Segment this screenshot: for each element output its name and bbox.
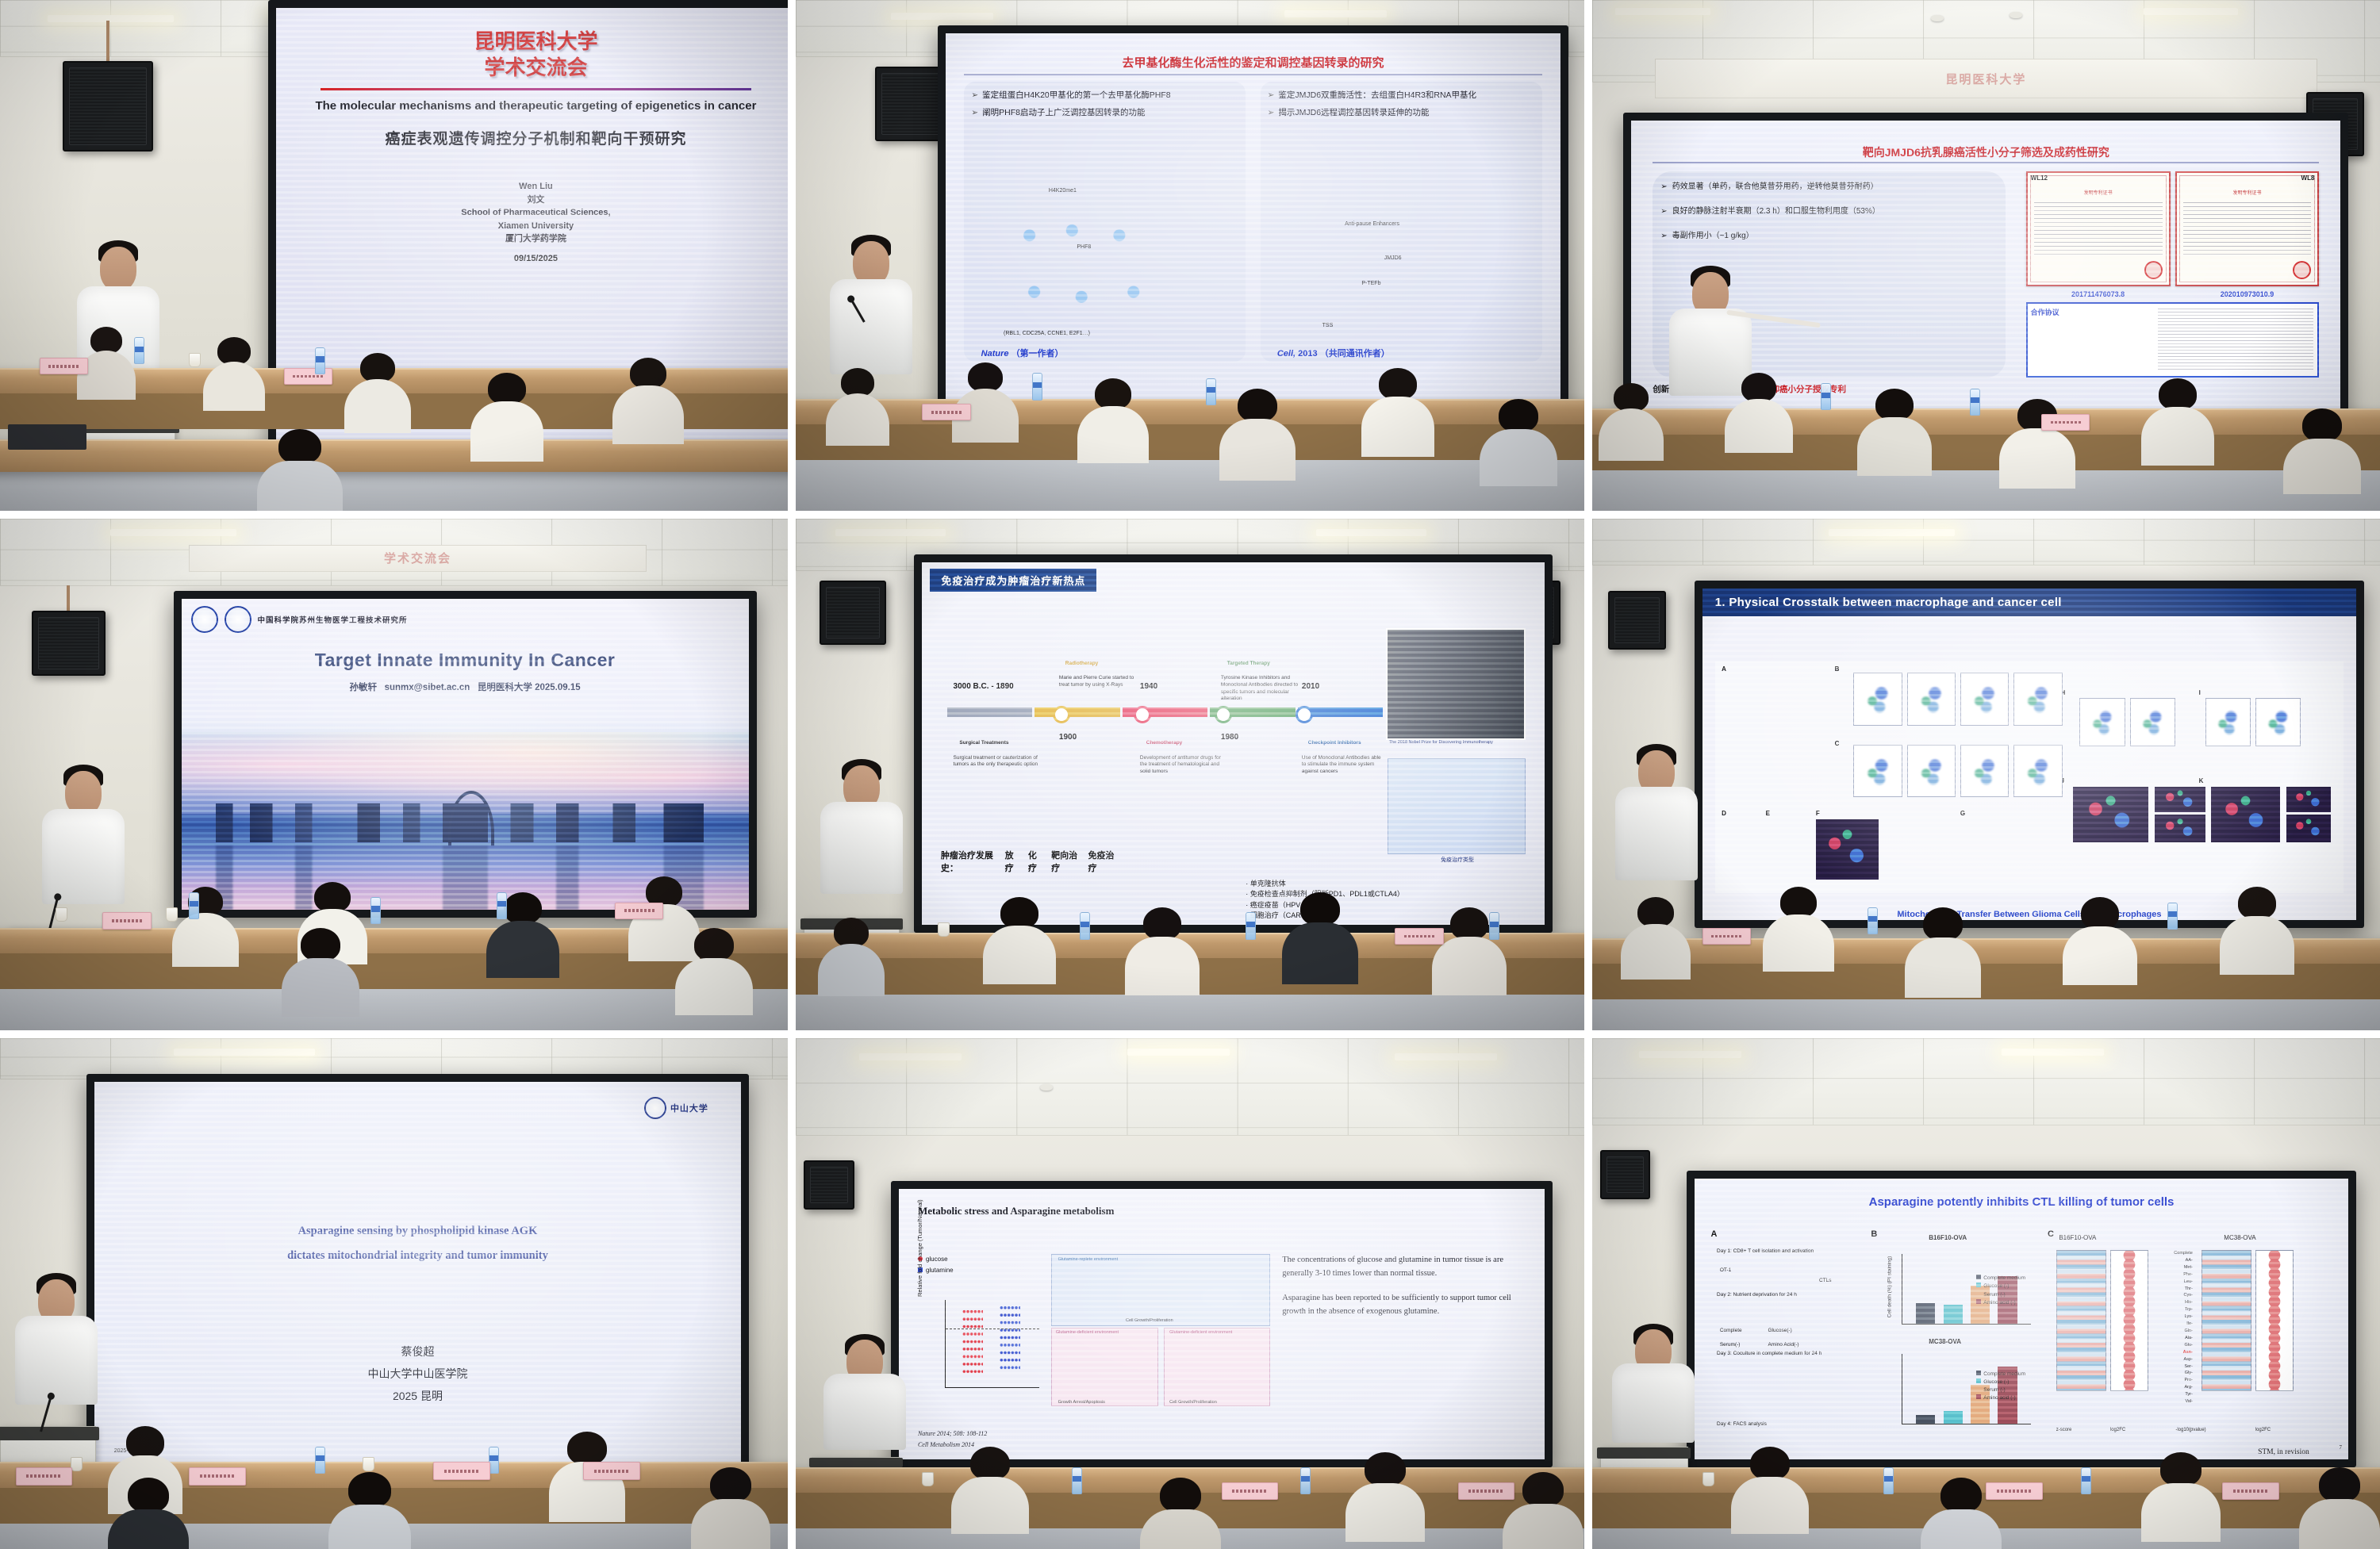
panel-letter-A: A [1722, 665, 1726, 673]
therapy-cn-immuno: 免疫治疗 [1088, 849, 1115, 874]
plot-axes [945, 1300, 1039, 1388]
presenter [1615, 1324, 1691, 1467]
venue-year: 2025 昆明 [114, 1385, 722, 1407]
dotplot-mc38 [2255, 1250, 2294, 1391]
row-label: 肿瘤治疗发展史： [941, 849, 996, 874]
diagram-label-deficient-1: Glutamine-deficient environment [1056, 1330, 1119, 1335]
official-stamp-icon [2144, 261, 2163, 279]
slide-date: 2025.09.15 [535, 683, 581, 692]
citation-right: Cell, 2013 （共同通讯作者） [1277, 347, 1390, 359]
timeline-node [1053, 706, 1070, 723]
therapy-name: Chemotherapy [1146, 740, 1183, 747]
audience-member [1222, 389, 1293, 512]
bullet-item: ➢药效显著（单药，联合他莫昔芬用药，逆转他莫昔芬耐药） [1660, 181, 1998, 193]
official-stamp-icon [2293, 261, 2311, 279]
audience-member [347, 353, 409, 466]
water-bottle [1821, 383, 1831, 410]
bullet-item: ➢阐明PHF8启动子上广泛调控基因转录的功能 [971, 107, 1238, 119]
sysu-crest-icon [644, 1097, 666, 1119]
photo-panel-3: 昆明医科大学 靶向JMJD6抗乳腺癌活性小分子筛选及成药性研究 ➢药效显著（单药… [1592, 0, 2380, 511]
wall-banner-text: 学术交流会 [384, 550, 451, 566]
audience-member [2065, 897, 2135, 1020]
bullet-item: ➢鉴定组蛋白H4K20甲基化的第一个去甲基化酶PHF8 [971, 90, 1238, 102]
photo-panel-6: 1. Physical Crosstalk between macrophage… [1592, 519, 2380, 1029]
fig-label-h4k20me1: H4K20me1 [1049, 188, 1077, 194]
wall-banner-text: 昆明医科大学 [1945, 71, 2026, 87]
affiliation-cn: 中山大学中山医学院 [114, 1363, 722, 1385]
timeline-year: 1940 [1140, 682, 1157, 691]
diagram-label-growth-top: Cell Growth/Proliferation [1126, 1318, 1173, 1323]
patent-number-left: 201711476073.8 [2026, 290, 2171, 298]
paragraph-1: The concentrations of glucose and glutam… [1282, 1254, 1525, 1281]
therapy-timeline [947, 707, 1383, 717]
paragraph-2: Asparagine has been reported to be suffi… [1282, 1292, 1525, 1319]
audience-member [827, 368, 888, 481]
diagram-label-growth: Cell Growth/Proliferation [1169, 1400, 1217, 1405]
presenter [16, 1273, 97, 1447]
bullet-arrow-icon: ➢ [1268, 90, 1275, 102]
timeline-node [1134, 706, 1151, 723]
slide-content: 免疫治疗成为肿瘤治疗新热点 3000 B.C. - 1890 [922, 562, 1545, 925]
timeline-arrow-radio [1035, 707, 1119, 717]
journal-name: Nature [981, 349, 1009, 358]
affiliation-cn: 厦门大学药学院 [291, 232, 780, 246]
name-plate [583, 1462, 640, 1480]
paper-cup [166, 907, 178, 922]
ceiling-light [1639, 1051, 1741, 1058]
therapy-name: Surgical Treatments [959, 740, 1008, 747]
name-plate [1395, 928, 1444, 945]
lecture-room: Asparagine potently inhibits CTL killing… [1592, 1038, 2380, 1549]
microscopy-image [2211, 787, 2280, 842]
name-plate [102, 912, 152, 929]
presenter [820, 759, 904, 933]
y-axis-label: Relative fold change (Tumor/Normal) [916, 1199, 923, 1297]
nobel-laureates-photo [1386, 628, 1526, 740]
panel-letter-E: E [1766, 810, 1770, 817]
name-plate [615, 903, 664, 919]
audience-member [954, 1447, 1027, 1549]
cas-logo-icon [191, 606, 218, 633]
protocol-day2: Day 2: Nutrient deprivation for 24 h [1717, 1291, 1861, 1299]
label-ot1: OT-1 [1720, 1267, 1731, 1275]
audience-member [1080, 378, 1146, 501]
panel-letter-B: B [1835, 665, 1840, 673]
status-note: STM, in revision [2258, 1448, 2309, 1456]
audience-member [473, 373, 541, 496]
therapy-name: Radiotherapy [1065, 661, 1099, 668]
panel-letter-A: A [1710, 1229, 1861, 1239]
wall-banner: 学术交流会 [189, 545, 646, 572]
sibet-logo-icon [225, 606, 251, 633]
bullet-arrow-icon: ➢ [971, 90, 978, 102]
nobel-caption: The 2018 Nobel Prize for Discovering Imm… [1389, 740, 1526, 745]
timeline-node [1215, 706, 1232, 723]
glucose-points [962, 1307, 983, 1375]
speaker-block: Wen Liu 刘文 School of Pharmaceutical Scie… [291, 180, 780, 246]
audience-member [110, 1478, 186, 1549]
water-bottle [189, 892, 199, 919]
audience-member [1364, 368, 1432, 491]
name-plate [1222, 1482, 1279, 1499]
scale-zscore: z-score [2056, 1428, 2072, 1432]
lecture-room: Metabolic stress and Asparagine metaboli… [796, 1038, 1583, 1549]
protocol-day3: Day 3: Coculture in complete medium for … [1717, 1350, 1861, 1358]
microscopy-image [2155, 787, 2205, 812]
glutamine-replete-panel [1051, 1254, 1270, 1325]
institute-name: 中国科学院苏州生物医学工程技术研究所 [258, 614, 408, 625]
projection-screen-frame: Asparagine potently inhibits CTL killing… [1687, 1171, 2356, 1467]
projection-screen-frame: 去甲基化酶生化活性的鉴定和调控基因转录的研究 ➢鉴定组蛋白H4K20甲基化的第一… [938, 25, 1568, 414]
wall-speaker [1608, 591, 1667, 650]
bullet-arrow-icon: ➢ [1660, 205, 1667, 217]
figure-panel-B: B B16F10-OVA Cell death (%) (PI staining… [1871, 1229, 2040, 1437]
paper-cup [922, 1472, 934, 1486]
ceiling-light [1127, 1049, 1230, 1056]
chart-title-bottom: MC38-OVA [1929, 1337, 1961, 1347]
water-bottle [1032, 373, 1042, 400]
microscopy-image [2286, 815, 2330, 842]
desk-front [796, 424, 1583, 460]
compound-tag: WL8 [2301, 174, 2315, 182]
plot-legend: glucose glutamine [918, 1254, 1039, 1275]
ceiling-light [1395, 1053, 1497, 1060]
label-serum-minus: Serum(-) [1720, 1341, 1741, 1349]
paper-cup [71, 1457, 83, 1471]
ceiling-light [835, 529, 946, 536]
projection-screen: Asparagine potently inhibits CTL killing… [1695, 1179, 2348, 1459]
paper-cup [363, 1457, 374, 1471]
name-plate [1986, 1482, 2043, 1499]
lecture-room: 昆明医科大学 学术交流会 The molecular mechanisms an… [0, 0, 788, 511]
water-bottle [1072, 1467, 1082, 1494]
lecture-room: 免疫治疗成为肿瘤治疗新热点 3000 B.C. - 1890 [796, 519, 1583, 1029]
slide-title-en: The molecular mechanisms and therapeutic… [291, 98, 780, 114]
wall-speaker [63, 61, 152, 151]
audience-member [1733, 1447, 1806, 1549]
bullet-item: · 单克隆抗体 [1246, 879, 1404, 890]
fig-label-enhancers: Anti-pause Enhancers [1345, 221, 1399, 227]
photo-panel-2: 去甲基化酶生化活性的鉴定和调控基因转录的研究 ➢鉴定组蛋白H4K20甲基化的第一… [796, 0, 1583, 511]
therapy-desc: Marie and Pierre Curie started to treat … [1059, 675, 1140, 689]
microscopy-image [2155, 815, 2205, 842]
laptop [8, 424, 86, 450]
therapy-history-row: 肿瘤治疗发展史： 放疗 化疗 靶向治疗 免疫治疗 [941, 849, 1115, 874]
water-bottle [370, 897, 381, 924]
water-bottle [1246, 912, 1256, 939]
reference-line [946, 1329, 1039, 1329]
photo-panel-7: 中山大学 Asparagine sensing by phospholipid … [0, 1038, 788, 1549]
projection-screen: 去甲基化酶生化活性的鉴定和调控基因转录的研究 ➢鉴定组蛋白H4K20甲基化的第一… [946, 33, 1560, 406]
fig-label-tss: TSS [1322, 323, 1334, 328]
presenter-block: 蔡俊超 中山大学中山医学院 2025 昆明 [114, 1340, 722, 1407]
projection-screen-frame: 中国科学院苏州生物医学工程技术研究所 Target Innate Immunit… [174, 591, 757, 918]
photo-panel-9: Asparagine potently inhibits CTL killing… [1592, 1038, 2380, 1549]
audience-member [615, 358, 681, 481]
audience-member [1623, 897, 1688, 1020]
bullet-item: ➢鉴定JMJD6双重酶活性：去组蛋白H4R3和RNA甲基化 [1268, 90, 1535, 102]
audience-member [205, 337, 263, 439]
water-bottle [1300, 1467, 1311, 1494]
name-plate [16, 1467, 73, 1486]
immunotherapy-types-diagram [1388, 758, 1526, 854]
panel-letter-I: I [2199, 689, 2201, 696]
journal-year: 2013 [1298, 349, 1317, 358]
lecture-room: 1. Physical Crosstalk between macrophage… [1592, 519, 2380, 1029]
protocol-day4: Day 4: FACS analysis [1717, 1421, 1861, 1428]
legend-top: Complete medium Glucose (-) Serum (-) Am… [1976, 1275, 2025, 1306]
ceiling-light [48, 15, 174, 22]
speaker-name-en: Wen Liu [291, 180, 780, 194]
panel-letter-C: C [1835, 740, 1840, 747]
therapy-cn-targeted: 靶向治疗 [1051, 849, 1078, 874]
slide-content: 中国科学院苏州生物医学工程技术研究所 Target Innate Immunit… [182, 599, 749, 910]
authorship-note: （第一作者） [1011, 349, 1064, 358]
wall-banner: 昆明医科大学 [1655, 59, 2317, 98]
slide-title: Asparagine potently inhibits CTL killing… [1714, 1195, 2329, 1209]
flow-plot [2013, 745, 2062, 797]
water-bottle [315, 1447, 325, 1474]
figure-panel-A: A Day 1: CD8+ T cell isolation and activ… [1710, 1229, 1861, 1437]
therapy-name: Checkpoint Inhibitors [1308, 740, 1361, 747]
metabolism-diagram: Glutamine-replete environment Glutamine-… [1051, 1254, 1270, 1406]
audience-member [2301, 1467, 2378, 1549]
legend-item-glutamine: glutamine [918, 1265, 1039, 1276]
audience-member [1505, 1472, 1581, 1549]
flow-plot [2255, 698, 2301, 746]
slide-title-line1: Asparagine sensing by phospholipid kinas… [114, 1219, 722, 1243]
citation-left: Nature （第一作者） [981, 347, 1064, 359]
label-ctls: CTLs [1819, 1277, 1832, 1285]
projection-screen: 1. Physical Crosstalk between macrophage… [1702, 589, 2356, 920]
speaker-mount-arm [67, 585, 70, 611]
fig-label-genes: (RBL1, CDC25A, CCNE1, E2F1…) [1004, 331, 1090, 336]
highlighted-amino-acid: Asn- [2183, 1350, 2193, 1355]
water-bottle [1206, 378, 1216, 405]
slide-content: Asparagine potently inhibits CTL killing… [1695, 1179, 2348, 1459]
explanatory-text: The concentrations of glucose and glutam… [1282, 1254, 1525, 1406]
scale-log2fc: log2FC [2110, 1428, 2125, 1432]
desk-row [1592, 408, 2380, 435]
ceiling-light [110, 529, 236, 536]
patent-certificate: WL8 发明专利证书 [2175, 171, 2320, 286]
presenter [1615, 744, 1698, 918]
affiliation-en-2: Xiamen University [291, 220, 780, 233]
photo-panel-8: Metabolic stress and Asparagine metaboli… [796, 1038, 1583, 1549]
audience-member [1127, 907, 1197, 1030]
name-plate [40, 358, 89, 374]
water-bottle [2167, 903, 2178, 930]
projection-screen-frame: 1. Physical Crosstalk between macrophage… [1695, 581, 2364, 928]
university-name-cn: 中山大学 [670, 1102, 708, 1114]
fig-label-jmjd6: JMJD6 [1384, 255, 1402, 261]
affiliation-en-1: School of Pharmaceutical Sciences, [291, 206, 780, 220]
audience-member [331, 1472, 409, 1549]
presenter-line: 孙敏轩 sunmx@sibet.ac.cn 昆明医科大学 2025.09.15 [182, 681, 749, 693]
bullet-column-left: ➢鉴定组蛋白H4K20甲基化的第一个去甲基化酶PHF8 ➢阐明PHF8启动子上广… [964, 82, 1246, 362]
panel-letter-F: F [1816, 810, 1820, 817]
bullet-item: ➢良好的静脉注射半衰期（2.3 h）和口服生物利用度（53%） [1660, 205, 1998, 217]
ceiling-light [2002, 1049, 2104, 1056]
flow-plot [2079, 698, 2125, 746]
photo-panel-4: 学术交流会 中国科学院苏州生物医学工程技术研究所 Target Innate I… [0, 519, 788, 1029]
flow-plot [1907, 745, 1956, 797]
therapy-desc: Development of antitumor drugs for the t… [1140, 755, 1227, 776]
fig-label-ptefb: P-TEFb [1361, 281, 1380, 286]
photo-panel-1: 昆明医科大学 学术交流会 The molecular mechanisms an… [0, 0, 788, 511]
lecture-room: 学术交流会 中国科学院苏州生物医学工程技术研究所 Target Innate I… [0, 519, 788, 1029]
audience-member [1860, 389, 1929, 512]
flow-plot [2130, 698, 2175, 746]
audience-member [2144, 1452, 2218, 1549]
therapy-name: Targeted Therapy [1227, 661, 1270, 668]
microscopy-image [2073, 787, 2148, 842]
label-aa-minus: Amino Acid(-) [1768, 1341, 1798, 1349]
therapy-desc: Surgical treatment or cauterization of t… [954, 755, 1041, 769]
ceiling-light [1829, 529, 1955, 536]
heatmap-title-left: B16F10-OVA [2059, 1233, 2096, 1243]
nucleosome-diagram [987, 194, 1223, 316]
therapy-desc: Tyrosine Kinase Inhibitors and Monoclona… [1221, 675, 1308, 703]
audience-member [2144, 378, 2212, 501]
legend-item-glucose: glucose [918, 1254, 1039, 1265]
lecture-room: 昆明医科大学 靶向JMJD6抗乳腺癌活性小分子筛选及成药性研究 ➢药效显著（单药… [1592, 0, 2380, 511]
lecture-room: 中山大学 Asparagine sensing by phospholipid … [0, 1038, 788, 1549]
flow-plot [1960, 745, 2009, 797]
slide-content: 1. Physical Crosstalk between macrophage… [1702, 589, 2356, 920]
certificate-heading: 发明专利证书 [2177, 189, 2318, 196]
wall-speaker [820, 581, 885, 645]
audience-member [1482, 399, 1555, 512]
water-bottle [1868, 907, 1878, 934]
therapy-desc: Use of Monoclonal Antibodies able to sti… [1302, 755, 1383, 776]
protocol-day1: Day 1: CD8+ T cell isolation and activat… [1717, 1248, 1861, 1256]
slide-title-line2: dictates mitochondrial integrity and tum… [114, 1244, 722, 1267]
patent-certificate: WL12 发明专利证书 [2026, 171, 2171, 286]
smoke-detector-icon [1040, 1084, 1053, 1091]
ceiling-light [174, 1049, 316, 1056]
photo-collage: 昆明医科大学 学术交流会 The molecular mechanisms an… [0, 0, 2380, 1549]
audience-member [284, 928, 357, 1030]
paper-cup [1702, 1472, 1714, 1486]
timeline-arrow-surgery [947, 707, 1032, 717]
label-complete: Complete [1720, 1327, 1742, 1335]
audience-member [1142, 1478, 1219, 1549]
slide-title: 1. Physical Crosstalk between macrophage… [1702, 589, 2356, 616]
audience-member [1907, 907, 1979, 1030]
microscopy-image [1816, 819, 1879, 880]
projection-screen: 中国科学院苏州生物医学工程技术研究所 Target Innate Immunit… [182, 599, 749, 910]
host-cn-line2: 学术交流会 [291, 55, 780, 81]
heatmap-mc38 [2201, 1250, 2251, 1391]
wall-speaker [1600, 1150, 1651, 1199]
timeline-year: 1900 [1059, 733, 1077, 742]
panel-letter-K: K [2199, 777, 2204, 784]
audience-member [678, 928, 750, 1030]
name-plate [433, 1462, 490, 1480]
wall-speaker [32, 611, 106, 675]
desk-front [1592, 435, 2380, 470]
timeline-year: 1980 [1221, 733, 1238, 742]
audience-member [1726, 373, 1791, 485]
patent-number-right: 202010973010.9 [2175, 290, 2320, 298]
audience-member [693, 1467, 768, 1549]
certificate-heading: 发明专利证书 [2028, 189, 2169, 196]
audience-member [551, 1432, 623, 1549]
flow-plot [1853, 673, 1902, 725]
authorship-note: （共同通讯作者） [1320, 349, 1390, 358]
label-glucose-minus: Glucose(-) [1768, 1327, 1791, 1335]
water-bottle [497, 892, 507, 919]
ceiling-light [891, 13, 993, 20]
dotplot-b16f10 [2110, 1250, 2149, 1391]
audience-member [985, 897, 1054, 1020]
ceiling-light [1316, 529, 1426, 536]
name-plate [189, 1467, 246, 1486]
speaker-mount-arm [106, 21, 109, 62]
diagram-label-arrest: Growth Arrest/Apoptosis [1058, 1400, 1105, 1405]
desk-row [796, 399, 1583, 426]
diagram-label-deficient-2: Glutamine-deficient environment [1169, 1330, 1232, 1335]
compound-tag: WL12 [2031, 174, 2048, 182]
lecture-room: 去甲基化酶生化活性的鉴定和调控基因转录的研究 ➢鉴定组蛋白H4K20甲基化的第一… [796, 0, 1583, 511]
slide-content: 中山大学 Asparagine sensing by phospholipid … [94, 1082, 740, 1470]
heatmap-b16f10 [2056, 1250, 2106, 1391]
audience-member [2222, 887, 2292, 1010]
slide-content: Metabolic stress and Asparagine metaboli… [899, 1189, 1545, 1459]
presenter-name-cn: 孙敏轩 [349, 683, 377, 692]
flow-plot [1907, 673, 1956, 725]
page-number: 7 [2339, 1444, 2342, 1451]
wall-speaker [804, 1160, 854, 1210]
journal-name: Cell [1277, 349, 1293, 358]
fig-label-phf8: PHF8 [1077, 244, 1091, 250]
slide-title-cn: 癌症表观遗传调控分子机制和靶向干预研究 [291, 127, 780, 148]
bullet-arrow-icon: ➢ [1268, 107, 1275, 119]
presenter-name-cn: 蔡俊超 [114, 1340, 722, 1363]
chart-title-top: B16F10-OVA [1929, 1233, 1967, 1243]
scale-log2fc-2: log2FC [2255, 1428, 2271, 1432]
bullet-arrow-icon: ➢ [1660, 181, 1667, 193]
cooperation-agreement-doc: 合作协议 [2026, 302, 2320, 377]
diagram-label-replete: Glutamine-replete environment [1058, 1257, 1119, 1262]
immunotherapy-caption: 免疫治疗类型 [1389, 856, 1526, 864]
figure-panel-C: C B16F10-OVA MC38-OVA CompleteAA-Met-Phe… [2048, 1229, 2332, 1437]
water-bottle [1883, 1467, 1894, 1494]
flow-plot [2013, 673, 2062, 725]
ceiling-light [859, 1053, 962, 1060]
reference-1: Nature 2014; 508: 108-112 [918, 1428, 987, 1440]
slide-date: 09/15/2025 [291, 254, 780, 263]
paper-cup [938, 922, 950, 937]
speaker-name-cn: 刘文 [291, 194, 780, 207]
ceiling-light [1284, 10, 1387, 17]
audience-member [174, 887, 237, 999]
name-plate [2222, 1482, 2279, 1499]
legend-bottom: Complete medium Glucose (-) Serum (-) Am… [1976, 1371, 2025, 1402]
flow-plot [2205, 698, 2251, 746]
slide-content: 去甲基化酶生化活性的鉴定和调控基因转录的研究 ➢鉴定组蛋白H4K20甲基化的第一… [946, 33, 1560, 406]
presenter [827, 1334, 902, 1477]
multi-panel-figure: A B C D E F G H I J K [1715, 661, 2343, 894]
name-plate [922, 404, 971, 420]
scale-pvalue: -log10(pvalue) [2175, 1428, 2205, 1432]
flow-plot [1960, 673, 2009, 725]
panel-letter-D: D [1722, 810, 1726, 817]
audience-member [2286, 408, 2359, 511]
audience-member [1765, 887, 1832, 1010]
therapy-cn-radio: 放疗 [1005, 849, 1019, 874]
